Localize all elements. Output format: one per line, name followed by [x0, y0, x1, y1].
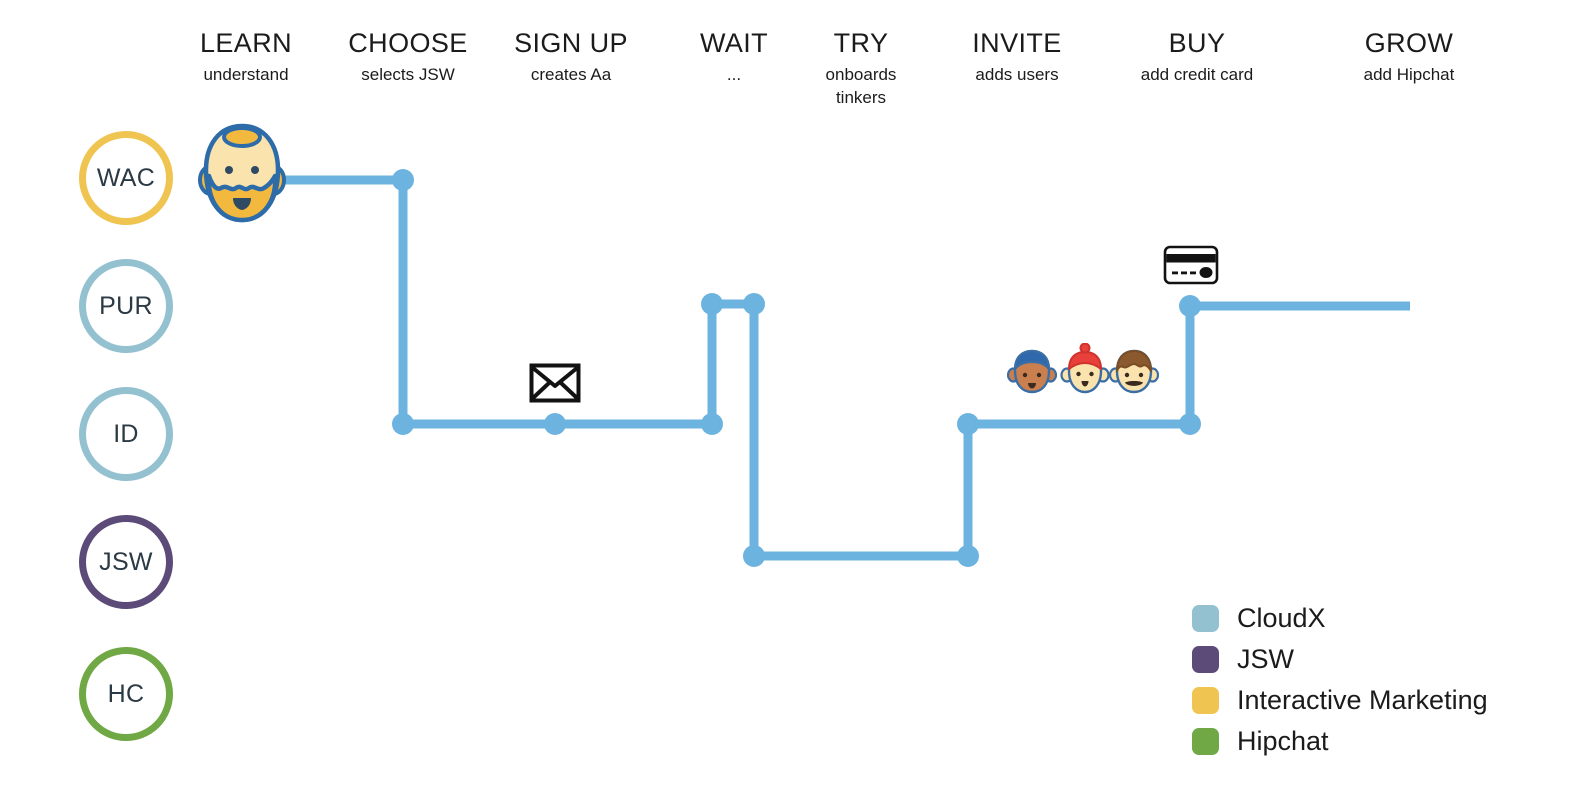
legend-swatch-icon: [1192, 646, 1219, 673]
node-choose-id[interactable]: [392, 413, 414, 435]
legend-item-jsw: JSW: [1192, 639, 1488, 680]
node-try-jsw[interactable]: [743, 545, 765, 567]
row-circle-id[interactable]: ID: [79, 387, 173, 481]
column-subtitle-line-1: adds users: [917, 63, 1117, 86]
column-title: BUY: [1097, 28, 1297, 58]
column-title: INVITE: [917, 28, 1117, 58]
node-buy-id[interactable]: [1179, 413, 1201, 435]
bearded-user-avatar: [198, 118, 286, 230]
legend-label: JSW: [1237, 646, 1294, 673]
legend-swatch-icon: [1192, 687, 1219, 714]
user-avatar-blue-hair: [1007, 347, 1057, 402]
node-wait-pur-a[interactable]: [701, 293, 723, 315]
column-title: GROW: [1309, 28, 1509, 58]
column-subtitle-line-1: add Hipchat: [1309, 63, 1509, 86]
node-choose-wac[interactable]: [392, 169, 414, 191]
column-subtitle: add credit card: [1097, 63, 1297, 86]
row-label: JSW: [99, 548, 153, 577]
column-subtitle-line-2: tinkers: [761, 86, 961, 109]
node-buy-pur[interactable]: [1179, 295, 1201, 317]
column-header-grow: GROW add Hipchat: [1309, 28, 1509, 86]
column-header-invite: INVITE adds users: [917, 28, 1117, 86]
column-subtitle: adds users: [917, 63, 1117, 86]
node-invite-id[interactable]: [957, 413, 979, 435]
node-wait-pur-b[interactable]: [743, 293, 765, 315]
row-circle-wac[interactable]: WAC: [79, 131, 173, 225]
envelope-icon: [529, 363, 581, 403]
row-circle-hc[interactable]: HC: [79, 647, 173, 741]
legend-label: CloudX: [1237, 605, 1326, 632]
column-subtitle: add Hipchat: [1309, 63, 1509, 86]
row-label: HC: [108, 680, 145, 709]
row-circle-jsw[interactable]: JSW: [79, 515, 173, 609]
column-subtitle-line-1: add credit card: [1097, 63, 1297, 86]
legend-swatch-icon: [1192, 728, 1219, 755]
column-header-buy: BUY add credit card: [1097, 28, 1297, 86]
node-signup-id[interactable]: [544, 413, 566, 435]
row-circle-pur[interactable]: PUR: [79, 259, 173, 353]
legend-label: Interactive Marketing: [1237, 687, 1488, 714]
credit-card-icon: [1163, 245, 1219, 285]
legend-item-interactive-marketing: Interactive Marketing: [1192, 680, 1488, 721]
legend-item-hipchat: Hipchat: [1192, 721, 1488, 762]
node-invite-jsw[interactable]: [957, 545, 979, 567]
legend: CloudX JSW Interactive Marketing Hipchat: [1192, 598, 1488, 762]
legend-label: Hipchat: [1237, 728, 1329, 755]
legend-swatch-icon: [1192, 605, 1219, 632]
row-label: PUR: [99, 292, 153, 321]
user-avatar-red-beanie: [1060, 343, 1110, 402]
row-label: WAC: [97, 164, 155, 193]
journey-map-canvas: LEARN understand CHOOSE selects JSW SIGN…: [0, 0, 1586, 792]
row-label: ID: [113, 420, 139, 449]
node-wait-id[interactable]: [701, 413, 723, 435]
user-avatar-brown-hair: [1109, 347, 1159, 402]
legend-item-cloudx: CloudX: [1192, 598, 1488, 639]
